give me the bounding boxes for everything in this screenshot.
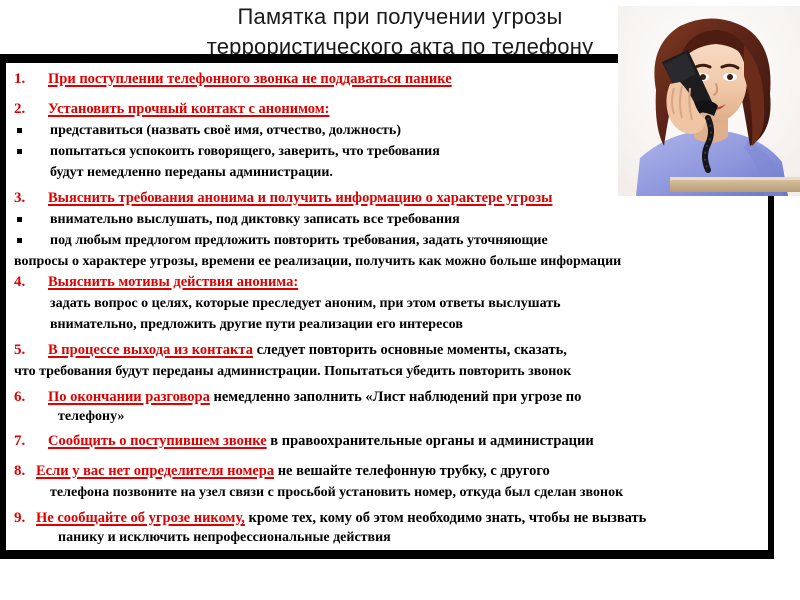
list-item: 4.Выяснить мотивы действия анонима:: [6, 272, 766, 293]
list-item-black-text: кроме тех, кому об этом необходимо знать…: [245, 510, 646, 526]
list-item-number: 7.: [14, 431, 48, 452]
slide-root: Памятка при получении угрозы террористич…: [0, 0, 800, 600]
square-bullet-icon: [17, 238, 22, 243]
list-item-red-text: Установить прочный контакт с анонимом:: [48, 101, 329, 117]
square-bullet-icon: [17, 149, 22, 154]
list-item-number: 9.: [14, 508, 36, 529]
list-sub-item-text: попытаться успокоить говорящего, заверит…: [50, 144, 440, 159]
list-item-number: 8.: [14, 461, 36, 482]
list-sub-item-text: внимательно выслушать, под диктовку запи…: [50, 212, 460, 227]
list-item-wrap-line: телефону»: [6, 408, 766, 426]
list-item-number: 1.: [14, 69, 48, 90]
list-item-black-text: немедленно заполнить «Лист наблюдений пр…: [210, 389, 582, 405]
list-item-red-text: По окончании разговора: [48, 389, 210, 405]
list-item: 7.Сообщить о поступившем звонке в правоо…: [6, 431, 766, 452]
list-item: 9.Не сообщайте об угрозе никому, кроме т…: [6, 508, 766, 529]
list-item-full-line: вопросы о характере угрозы, времени ее р…: [6, 251, 766, 272]
list-item-black-text: следует повторить основные моменты, сказ…: [253, 342, 567, 358]
list-item-number: 5.: [14, 340, 48, 361]
list-sub-item-text: под любым предлогом предложить повторить…: [50, 233, 548, 248]
list-item-wrap-line: панику и исключить непрофессиональные де…: [6, 529, 766, 547]
list-item-red-text: Сообщить о поступившем звонке: [48, 433, 267, 449]
list-sub-item: внимательно выслушать, под диктовку запи…: [6, 209, 766, 230]
list-item: 6.По окончании разговора немедленно запо…: [6, 387, 766, 408]
list-item-full-line: что требования будут переданы администра…: [6, 361, 766, 382]
list-item-red-text: Выяснить требования анонима и получить и…: [48, 190, 552, 206]
list-sub-item-text: представиться (назвать своё имя, отчеств…: [50, 123, 401, 138]
list-item-black-text: не вешайте телефонную трубку, с другого: [274, 463, 550, 479]
list-item-number: 6.: [14, 387, 48, 408]
list-item: 5.В процессе выхода из контакта следует …: [6, 340, 766, 361]
woman-on-telephone-photo: [618, 6, 800, 196]
square-bullet-icon: [17, 217, 22, 222]
list-sub-item: под любым предлогом предложить повторить…: [6, 230, 766, 251]
list-item-continuation: внимательно, предложить другие пути реал…: [6, 314, 766, 335]
list-item-red-text: В процессе выхода из контакта: [48, 342, 253, 358]
list-item-red-text: Выяснить мотивы действия анонима:: [48, 274, 298, 290]
list-item-continuation: задать вопрос о целях, которые преследуе…: [6, 293, 766, 314]
square-bullet-icon: [17, 128, 22, 133]
list-item-number: 3.: [14, 188, 48, 209]
list-item-black-text: в правоохранительные органы и администра…: [267, 433, 594, 449]
list-item-number: 2.: [14, 99, 48, 120]
list-item-number: 4.: [14, 272, 48, 293]
list-item-continuation: телефона позвоните на узел связи с прось…: [6, 482, 766, 503]
list-item-red-text: Не сообщайте об угрозе никому,: [36, 510, 245, 526]
photo-illustration: [618, 6, 800, 196]
list-item: 8.Если у вас нет определителя номера не …: [6, 461, 766, 482]
list-item-red-text: Если у вас нет определителя номера: [36, 463, 274, 479]
spacer: [6, 452, 766, 461]
list-item-red-text: При поступлении телефонного звонка не по…: [48, 71, 452, 87]
